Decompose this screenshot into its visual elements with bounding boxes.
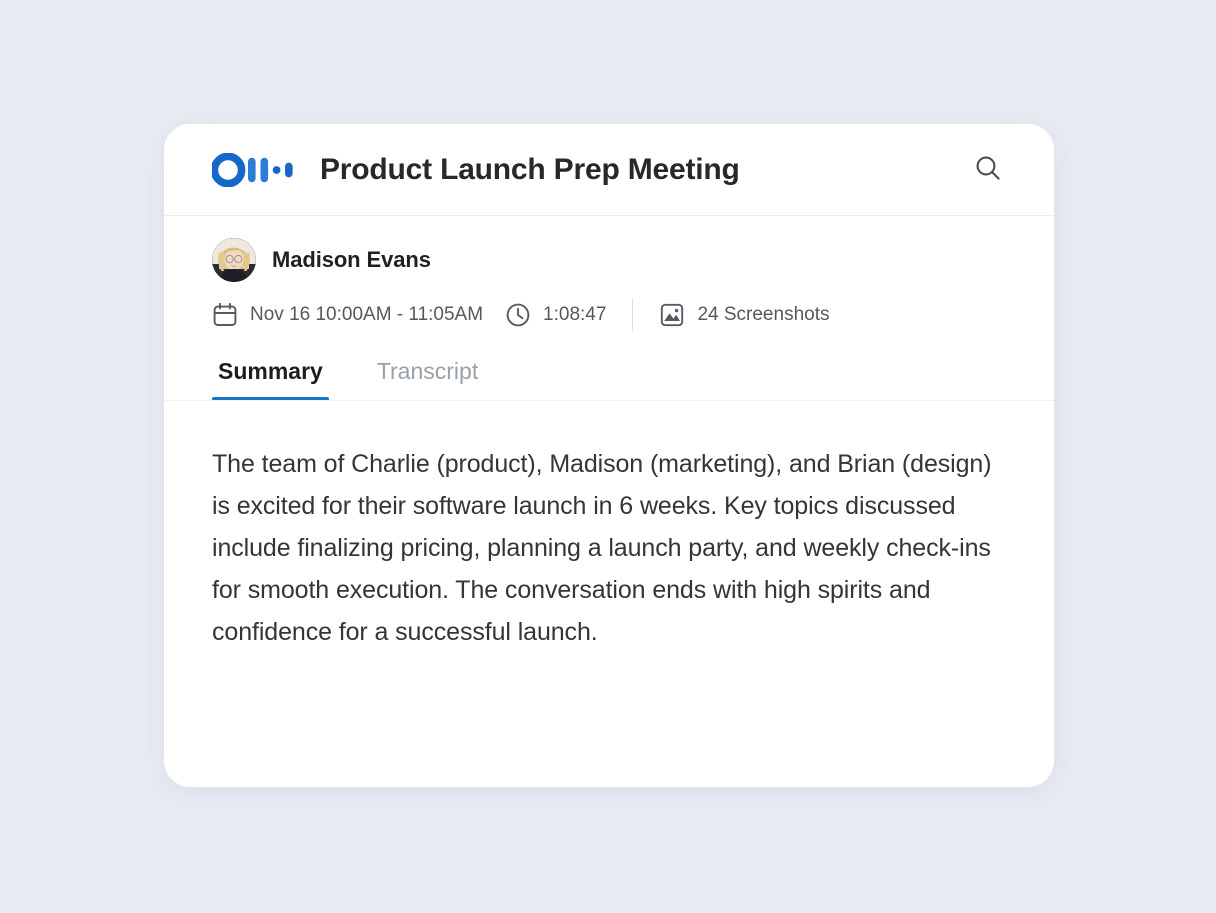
avatar[interactable]	[212, 238, 256, 282]
tabs-divider	[164, 400, 1054, 401]
tabs-container: Summary Transcript	[212, 357, 1006, 401]
meta-screenshots[interactable]: 24 Screenshots	[659, 302, 829, 328]
meeting-meta-row: Nov 16 10:00AM - 11:05AM 1:08:47	[212, 299, 1006, 331]
card-body: Madison Evans Nov 16 10:00AM - 11:05AM	[164, 238, 1054, 653]
search-button[interactable]	[970, 152, 1006, 188]
speaker-row: Madison Evans	[212, 238, 1006, 282]
meta-date: Nov 16 10:00AM - 11:05AM	[212, 302, 483, 328]
meta-duration-text: 1:08:47	[543, 304, 606, 326]
meeting-card: Product Launch Prep Meeting	[164, 124, 1054, 787]
otter-logo[interactable]	[212, 153, 294, 187]
calendar-icon	[212, 302, 238, 328]
clock-icon	[505, 302, 531, 328]
tab-summary[interactable]: Summary	[212, 357, 329, 401]
meta-screenshots-text: 24 Screenshots	[697, 304, 829, 326]
image-icon	[659, 302, 685, 328]
tabs: Summary Transcript	[212, 357, 1006, 401]
meta-date-text: Nov 16 10:00AM - 11:05AM	[250, 304, 483, 326]
meta-duration: 1:08:47	[505, 302, 606, 328]
page-title: Product Launch Prep Meeting	[320, 153, 970, 187]
meta-divider	[632, 299, 633, 331]
search-icon	[973, 153, 1003, 186]
page-root: Product Launch Prep Meeting	[0, 0, 1216, 913]
speaker-name: Madison Evans	[272, 247, 431, 273]
tab-transcript[interactable]: Transcript	[371, 357, 484, 401]
card-header: Product Launch Prep Meeting	[164, 124, 1054, 216]
summary-body: The team of Charlie (product), Madison (…	[212, 443, 1002, 653]
